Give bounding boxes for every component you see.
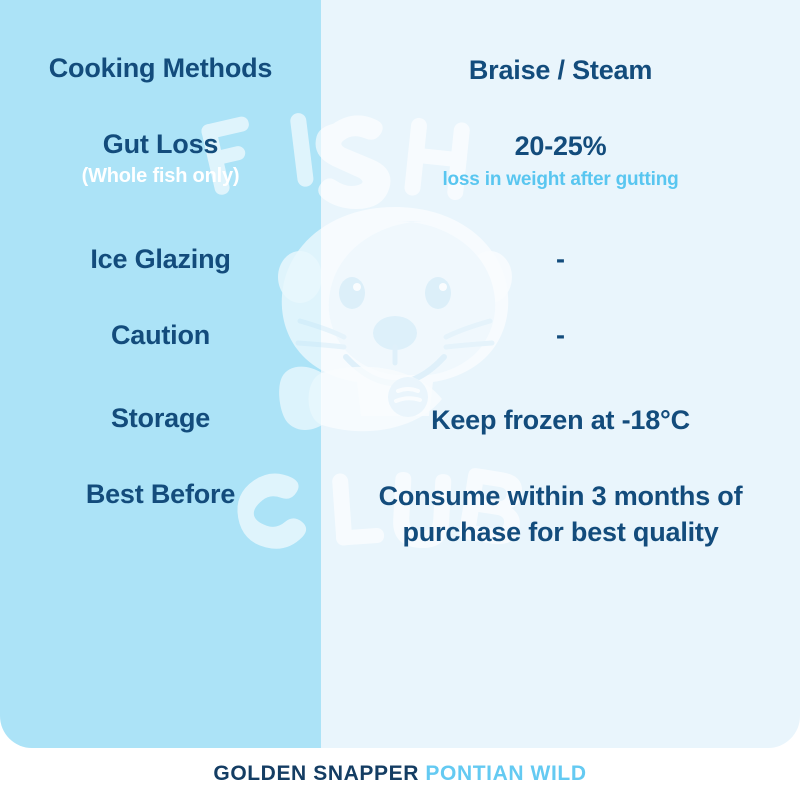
spec-label: Cooking Methods	[14, 53, 307, 84]
spec-label-cell: Caution	[0, 320, 321, 351]
spec-row-cooking-methods: Cooking Methods Braise / Steam	[0, 53, 800, 89]
spec-label: Gut Loss	[14, 129, 307, 160]
spec-row-ice-glazing: Ice Glazing -	[0, 244, 800, 275]
spec-subvalue: loss in weight after gutting	[347, 169, 774, 192]
product-spec-card: Cooking Methods Braise / Steam Gut Loss …	[0, 0, 800, 800]
spec-label-cell: Gut Loss (Whole fish only)	[0, 129, 321, 188]
spec-value: Keep frozen at -18°C	[347, 403, 774, 439]
spec-row-gut-loss: Gut Loss (Whole fish only) 20-25% loss i…	[0, 129, 800, 191]
spec-sublabel: (Whole fish only)	[14, 164, 307, 188]
spec-label-cell: Storage	[0, 403, 321, 434]
spec-value: 20-25%	[347, 129, 774, 165]
spec-label: Storage	[14, 403, 307, 434]
spec-value-cell: -	[321, 244, 800, 275]
spec-value-cell: Braise / Steam	[321, 53, 800, 89]
spec-label-cell: Best Before	[0, 479, 321, 510]
spec-label: Caution	[14, 320, 307, 351]
spec-value-cell: 20-25% loss in weight after gutting	[321, 129, 800, 191]
spec-value: -	[347, 244, 774, 275]
spec-label-cell: Cooking Methods	[0, 53, 321, 84]
spec-value: Braise / Steam	[347, 53, 774, 89]
spec-value: Consume within 3 months of purchase for …	[347, 479, 774, 550]
spec-label: Best Before	[14, 479, 307, 510]
product-name-footer: GOLDEN SNAPPER PONTIAN WILD	[0, 748, 800, 800]
spec-value: -	[347, 320, 774, 351]
spec-row-caution: Caution -	[0, 320, 800, 351]
spec-row-storage: Storage Keep frozen at -18°C	[0, 403, 800, 439]
footer-product-origin: PONTIAN WILD	[425, 762, 586, 785]
footer-product-name: GOLDEN SNAPPER	[213, 762, 419, 785]
spec-value-cell: Consume within 3 months of purchase for …	[321, 479, 800, 550]
spec-label: Ice Glazing	[14, 244, 307, 275]
spec-value-cell: Keep frozen at -18°C	[321, 403, 800, 439]
spec-row-best-before: Best Before Consume within 3 months of p…	[0, 479, 800, 550]
footer-text: GOLDEN SNAPPER PONTIAN WILD	[213, 762, 586, 786]
spec-label-cell: Ice Glazing	[0, 244, 321, 275]
spec-value-cell: -	[321, 320, 800, 351]
spec-table: Cooking Methods Braise / Steam Gut Loss …	[0, 0, 800, 748]
